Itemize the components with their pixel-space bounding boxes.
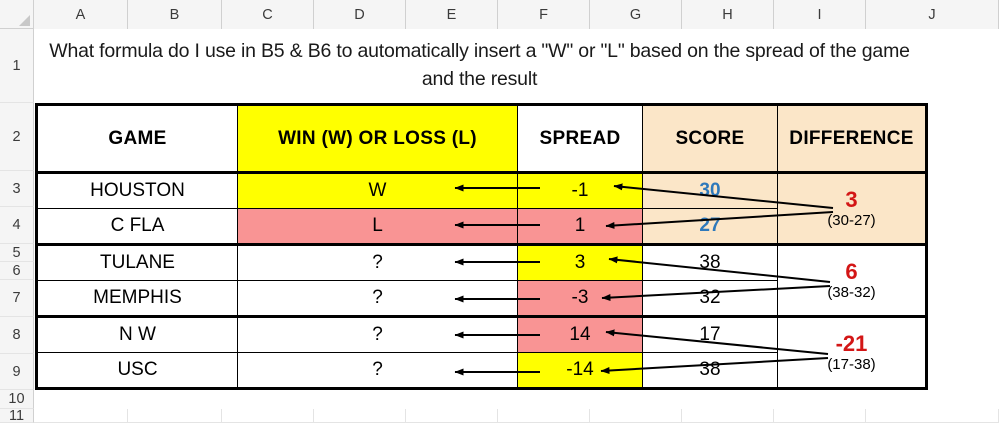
row-header-3[interactable]: 3 bbox=[0, 171, 34, 207]
header-win-loss: WIN (W) OR LOSS (L) bbox=[238, 105, 518, 173]
cell-result-memphis[interactable]: ? bbox=[238, 281, 518, 317]
grid-cell[interactable] bbox=[498, 409, 590, 423]
grid-cell[interactable] bbox=[774, 409, 866, 423]
row-header-8[interactable]: 8 bbox=[0, 317, 34, 354]
cell-score-tulane[interactable]: 38 bbox=[643, 245, 778, 281]
row-header-7[interactable]: 7 bbox=[0, 280, 34, 317]
row-header-1[interactable]: 1 bbox=[0, 29, 34, 103]
cell-score-memphis[interactable]: 32 bbox=[643, 281, 778, 317]
difference-value-1: 3 bbox=[778, 188, 925, 211]
row-header-2[interactable]: 2 bbox=[0, 103, 34, 171]
header-game: GAME bbox=[37, 105, 238, 173]
row-header-10[interactable]: 10 bbox=[0, 390, 34, 409]
table-header-row: GAME WIN (W) OR LOSS (L) SPREAD SCORE DI… bbox=[37, 105, 927, 173]
difference-value-2: 6 bbox=[778, 260, 925, 283]
cell-spread-cfla[interactable]: 1 bbox=[518, 209, 643, 245]
column-header-f[interactable]: F bbox=[498, 0, 590, 29]
difference-formula-1: (30-27) bbox=[778, 213, 925, 229]
header-difference: DIFFERENCE bbox=[778, 105, 927, 173]
cell-spread-houston[interactable]: -1 bbox=[518, 173, 643, 209]
column-header-c[interactable]: C bbox=[222, 0, 314, 29]
cell-game-houston[interactable]: HOUSTON bbox=[37, 173, 238, 209]
cell-game-memphis[interactable]: MEMPHIS bbox=[37, 281, 238, 317]
column-header-d[interactable]: D bbox=[314, 0, 406, 29]
table-row: N W ? 14 17 -21 (17-38) bbox=[37, 317, 927, 353]
cell-game-tulane[interactable]: TULANE bbox=[37, 245, 238, 281]
column-header-i[interactable]: I bbox=[774, 0, 866, 29]
cell-spread-nw[interactable]: 14 bbox=[518, 317, 643, 353]
row-header-5[interactable]: 5 bbox=[0, 244, 34, 262]
column-header-a[interactable]: A bbox=[34, 0, 128, 29]
row-header-9[interactable]: 9 bbox=[0, 354, 34, 390]
cell-score-houston[interactable]: 30 bbox=[643, 173, 778, 209]
grid-cell[interactable] bbox=[128, 409, 222, 423]
cell-game-usc[interactable]: USC bbox=[37, 353, 238, 389]
table-row: HOUSTON W -1 30 3 (30-27) bbox=[37, 173, 927, 209]
row-header-6[interactable]: 6 bbox=[0, 262, 34, 280]
column-header-h[interactable]: H bbox=[682, 0, 774, 29]
cell-game-cfla[interactable]: C FLA bbox=[37, 209, 238, 245]
header-spread: SPREAD bbox=[518, 105, 643, 173]
cell-score-usc[interactable]: 38 bbox=[643, 353, 778, 389]
column-header-e[interactable]: E bbox=[406, 0, 498, 29]
cell-spread-usc[interactable]: -14 bbox=[518, 353, 643, 389]
header-score: SCORE bbox=[643, 105, 778, 173]
cell-score-nw[interactable]: 17 bbox=[643, 317, 778, 353]
grid-cell[interactable] bbox=[406, 409, 498, 423]
grid-cell[interactable] bbox=[34, 409, 128, 423]
column-header-b[interactable]: B bbox=[128, 0, 222, 29]
column-header-g[interactable]: G bbox=[590, 0, 682, 29]
row-header-4[interactable]: 4 bbox=[0, 207, 34, 244]
difference-formula-2: (38-32) bbox=[778, 285, 925, 301]
cell-difference-2[interactable]: 6 (38-32) bbox=[778, 245, 927, 317]
cell-result-tulane[interactable]: ? bbox=[238, 245, 518, 281]
game-spread-table: GAME WIN (W) OR LOSS (L) SPREAD SCORE DI… bbox=[35, 103, 928, 390]
cell-result-houston[interactable]: W bbox=[238, 173, 518, 209]
select-all-corner[interactable] bbox=[0, 0, 34, 29]
cell-result-cfla[interactable]: L bbox=[238, 209, 518, 245]
row-header-11[interactable]: 11 bbox=[0, 409, 34, 423]
cell-difference-1[interactable]: 3 (30-27) bbox=[778, 173, 927, 245]
grid-cell[interactable] bbox=[682, 409, 774, 423]
cell-result-usc[interactable]: ? bbox=[238, 353, 518, 389]
difference-value-3: -21 bbox=[778, 332, 925, 355]
cell-result-nw[interactable]: ? bbox=[238, 317, 518, 353]
spreadsheet-sheet: ABCDEFGHIJ 1234567891011 What formula do… bbox=[0, 0, 999, 423]
cell-spread-memphis[interactable]: -3 bbox=[518, 281, 643, 317]
grid-cell[interactable] bbox=[590, 409, 682, 423]
cell-score-cfla[interactable]: 27 bbox=[643, 209, 778, 245]
grid-cell[interactable] bbox=[866, 409, 999, 423]
table-row: TULANE ? 3 38 6 (38-32) bbox=[37, 245, 927, 281]
grid-cell[interactable] bbox=[222, 409, 314, 423]
cell-difference-3[interactable]: -21 (17-38) bbox=[778, 317, 927, 389]
cell-spread-tulane[interactable]: 3 bbox=[518, 245, 643, 281]
cell-game-nw[interactable]: N W bbox=[37, 317, 238, 353]
grid-cell[interactable] bbox=[314, 409, 406, 423]
question-title-cell: What formula do I use in B5 & B6 to auto… bbox=[34, 29, 925, 103]
column-header-j[interactable]: J bbox=[866, 0, 999, 29]
difference-formula-3: (17-38) bbox=[778, 357, 925, 373]
